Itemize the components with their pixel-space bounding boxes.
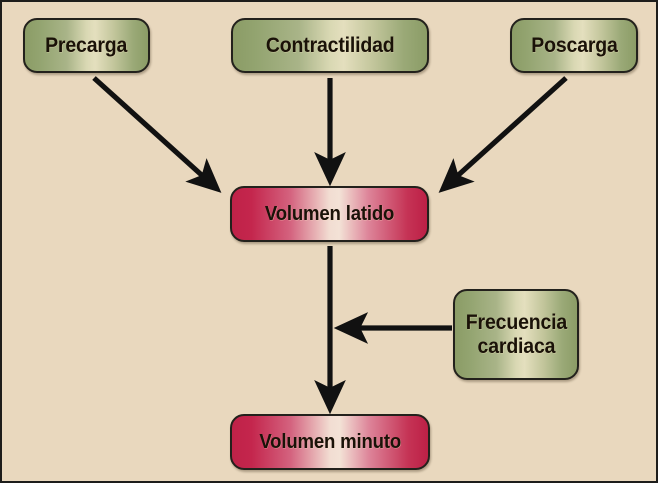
node-poscarga-label: Poscarga [531, 34, 617, 58]
node-volumen-minuto[interactable]: Volumen minuto [230, 414, 430, 470]
arrow-layer [2, 2, 658, 483]
diagram-canvas: Precarga Contractilidad Poscarga Volumen… [0, 0, 658, 483]
node-poscarga[interactable]: Poscarga [510, 18, 638, 73]
node-volumen-latido-label: Volumen latido [265, 203, 394, 225]
node-frecuencia-cardiaca[interactable]: Frecuencia cardiaca [453, 289, 579, 380]
arrow-precarga-to-volumen-latido [94, 78, 216, 188]
node-volumen-latido[interactable]: Volumen latido [230, 186, 429, 242]
node-volumen-minuto-label: Volumen minuto [259, 431, 401, 453]
node-precarga[interactable]: Precarga [23, 18, 150, 73]
node-precarga-label: Precarga [45, 34, 127, 58]
node-contractilidad-label: Contractilidad [266, 34, 395, 58]
arrow-poscarga-to-volumen-latido [444, 78, 566, 188]
node-frecuencia-cardiaca-label-line1: Frecuencia [465, 311, 566, 334]
node-frecuencia-cardiaca-label: Frecuencia cardiaca [465, 311, 566, 358]
node-frecuencia-cardiaca-label-line2: cardiaca [477, 335, 555, 358]
node-contractilidad[interactable]: Contractilidad [231, 18, 429, 73]
